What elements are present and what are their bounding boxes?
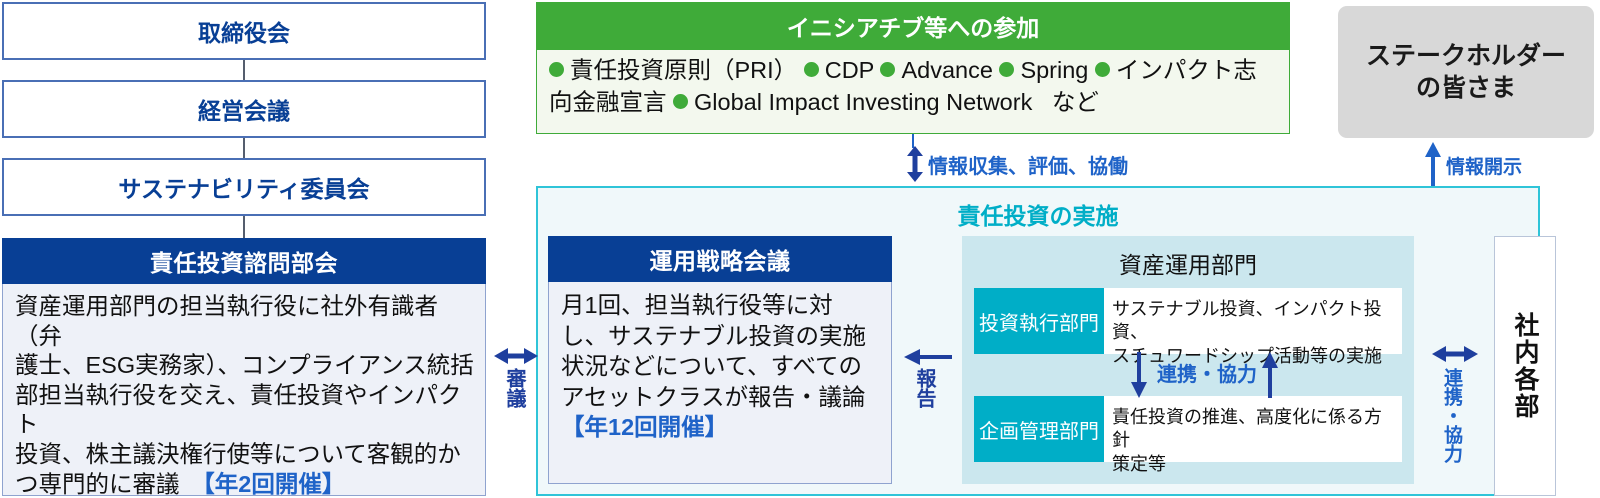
label-cooperation: 連携・協力 — [1157, 358, 1257, 387]
card-advisory-body: 資産運用部門の担当執行役に社外有識者（弁 護士、ESG実務家）、コンプライアンス… — [2, 284, 486, 496]
arrow-up-cooperation-icon — [1262, 352, 1278, 398]
strategy-line-4: アセットクラスが報告・議論 — [561, 382, 883, 413]
tag-investment-execution: 投資執行部門 — [974, 288, 1104, 354]
initiative-item-3: Spring — [1020, 57, 1088, 83]
connector-sustainability-to-advisory — [243, 216, 245, 238]
arrow-leftright-deliberation-icon — [494, 346, 538, 366]
box-board-of-directors-label: 取締役会 — [198, 14, 290, 48]
box-board-of-directors: 取締役会 — [2, 2, 486, 60]
card-advisory-title: 責任投資諮問部会 — [150, 244, 338, 278]
strategy-line-2: し、サステナブル投資の実施 — [561, 321, 883, 352]
arrow-down-cooperation-icon — [1131, 352, 1147, 398]
box-sustainability-committee-label: サステナビリティ委員会 — [118, 170, 369, 204]
advisory-line-5-text: つ専門的に審議 — [15, 471, 203, 497]
card-strategy-title: 運用戦略会議 — [650, 242, 791, 276]
box-sustainability-committee: サステナビリティ委員会 — [2, 158, 486, 216]
asset-management-department-title: 資産運用部門 — [962, 246, 1414, 280]
label-report: 報告 — [912, 368, 934, 408]
strategy-line-1: 月1回、担当執行役等に対 — [561, 290, 883, 321]
bullet-icon — [999, 62, 1014, 77]
text-investment-execution: サステナブル投資、インパクト投資、 スチュワードシップ活動等の実施 — [1104, 288, 1402, 354]
card-strategy-body: 月1回、担当執行役等に対 し、サステナブル投資の実施 状況などについて、すべての… — [548, 282, 892, 484]
bullet-icon — [804, 62, 819, 77]
advisory-frequency-badge: 【年2回開催】 — [203, 471, 345, 497]
card-initiatives: イニシアチブ等への参加 責任投資原則（PRI） CDP Advance Spri… — [536, 2, 1290, 134]
initiatives-suffix: など — [1052, 89, 1099, 115]
initiative-item-2: Advance — [901, 57, 992, 83]
advisory-line-2: 護士、ESG実務家）、コンプライアンス統括 — [15, 351, 475, 381]
text-planning-management: 責任投資の推進、高度化に係る方針 策定等 — [1104, 396, 1402, 462]
panel-title: 責任投資の実施 — [538, 197, 1538, 231]
strategy-frequency-badge: 【年12回開催】 — [561, 412, 883, 443]
initiative-item-1: CDP — [825, 57, 874, 83]
box-internal-departments: 社内各部 — [1494, 236, 1556, 496]
connector-board-to-management — [243, 60, 245, 80]
arrow-updown-collaboration-icon — [906, 146, 924, 182]
bullet-icon — [1095, 62, 1110, 77]
diagram-root: 取締役会 経営会議 サステナビリティ委員会 責任投資諮問部会 資産運用部門の担当… — [0, 0, 1600, 498]
planning-management-line-2: 策定等 — [1112, 453, 1396, 476]
row-planning-management: 企画管理部門 責任投資の推進、高度化に係る方針 策定等 — [974, 396, 1402, 462]
label-information-disclosure: 情報開示 — [1446, 152, 1522, 179]
planning-management-line-1: 責任投資の推進、高度化に係る方針 — [1112, 406, 1396, 453]
label-collect-evaluate-collaborate: 情報収集、評価、協働 — [928, 150, 1128, 179]
initiative-item-5: Global Impact Investing Network — [694, 89, 1032, 115]
card-advisory-header: 責任投資諮問部会 — [2, 238, 486, 284]
advisory-line-5: つ専門的に審議 【年2回開催】 — [15, 470, 475, 498]
bullet-icon — [880, 62, 895, 77]
card-initiatives-header: イニシアチブ等への参加 — [536, 2, 1290, 50]
box-management-meeting-label: 経営会議 — [198, 92, 290, 126]
initiative-item-0: 責任投資原則（PRI） — [570, 57, 797, 83]
card-strategy-header: 運用戦略会議 — [548, 236, 892, 282]
tag-planning-management: 企画管理部門 — [974, 396, 1104, 462]
card-responsible-investment-advisory: 責任投資諮問部会 資産運用部門の担当執行役に社外有識者（弁 護士、ESG実務家）… — [2, 238, 486, 496]
card-initiatives-title: イニシアチブ等への参加 — [787, 9, 1040, 43]
card-initiatives-body: 責任投資原則（PRI） CDP Advance Spring インパクト志向金融… — [536, 50, 1290, 134]
box-internal-departments-label: 社内各部 — [1507, 312, 1543, 420]
investment-execution-line-1: サステナブル投資、インパクト投資、 — [1112, 298, 1396, 345]
box-stakeholders-text: ステークホルダー の皆さま — [1366, 40, 1566, 105]
advisory-line-3: 部担当執行役を交え、責任投資やインパクト — [15, 381, 475, 440]
advisory-line-1: 資産運用部門の担当執行役に社外有識者（弁 — [15, 292, 475, 351]
arrow-left-report-icon — [904, 348, 952, 366]
box-management-meeting: 経営会議 — [2, 80, 486, 138]
row-investment-execution: 投資執行部門 サステナブル投資、インパクト投資、 スチュワードシップ活動等の実施 — [974, 288, 1402, 354]
advisory-line-4: 投資、株主議決権行使等について客観的か — [15, 440, 475, 470]
connector-management-to-sustainability — [243, 138, 245, 158]
strategy-line-3: 状況などについて、すべての — [561, 351, 883, 382]
bullet-icon — [673, 94, 688, 109]
stakeholders-line-2: の皆さま — [1416, 74, 1516, 102]
label-internal-cooperation: 連携・協力 — [1439, 368, 1461, 463]
label-deliberation: 審議 — [502, 368, 524, 408]
stakeholders-line-1: ステークホルダー — [1366, 42, 1566, 70]
arrow-leftright-internal-cooperation-icon — [1432, 344, 1478, 364]
box-stakeholders: ステークホルダー の皆さま — [1338, 6, 1594, 138]
card-investment-strategy-meeting: 運用戦略会議 月1回、担当執行役等に対 し、サステナブル投資の実施 状況などにつ… — [548, 236, 892, 484]
bullet-icon — [549, 62, 564, 77]
